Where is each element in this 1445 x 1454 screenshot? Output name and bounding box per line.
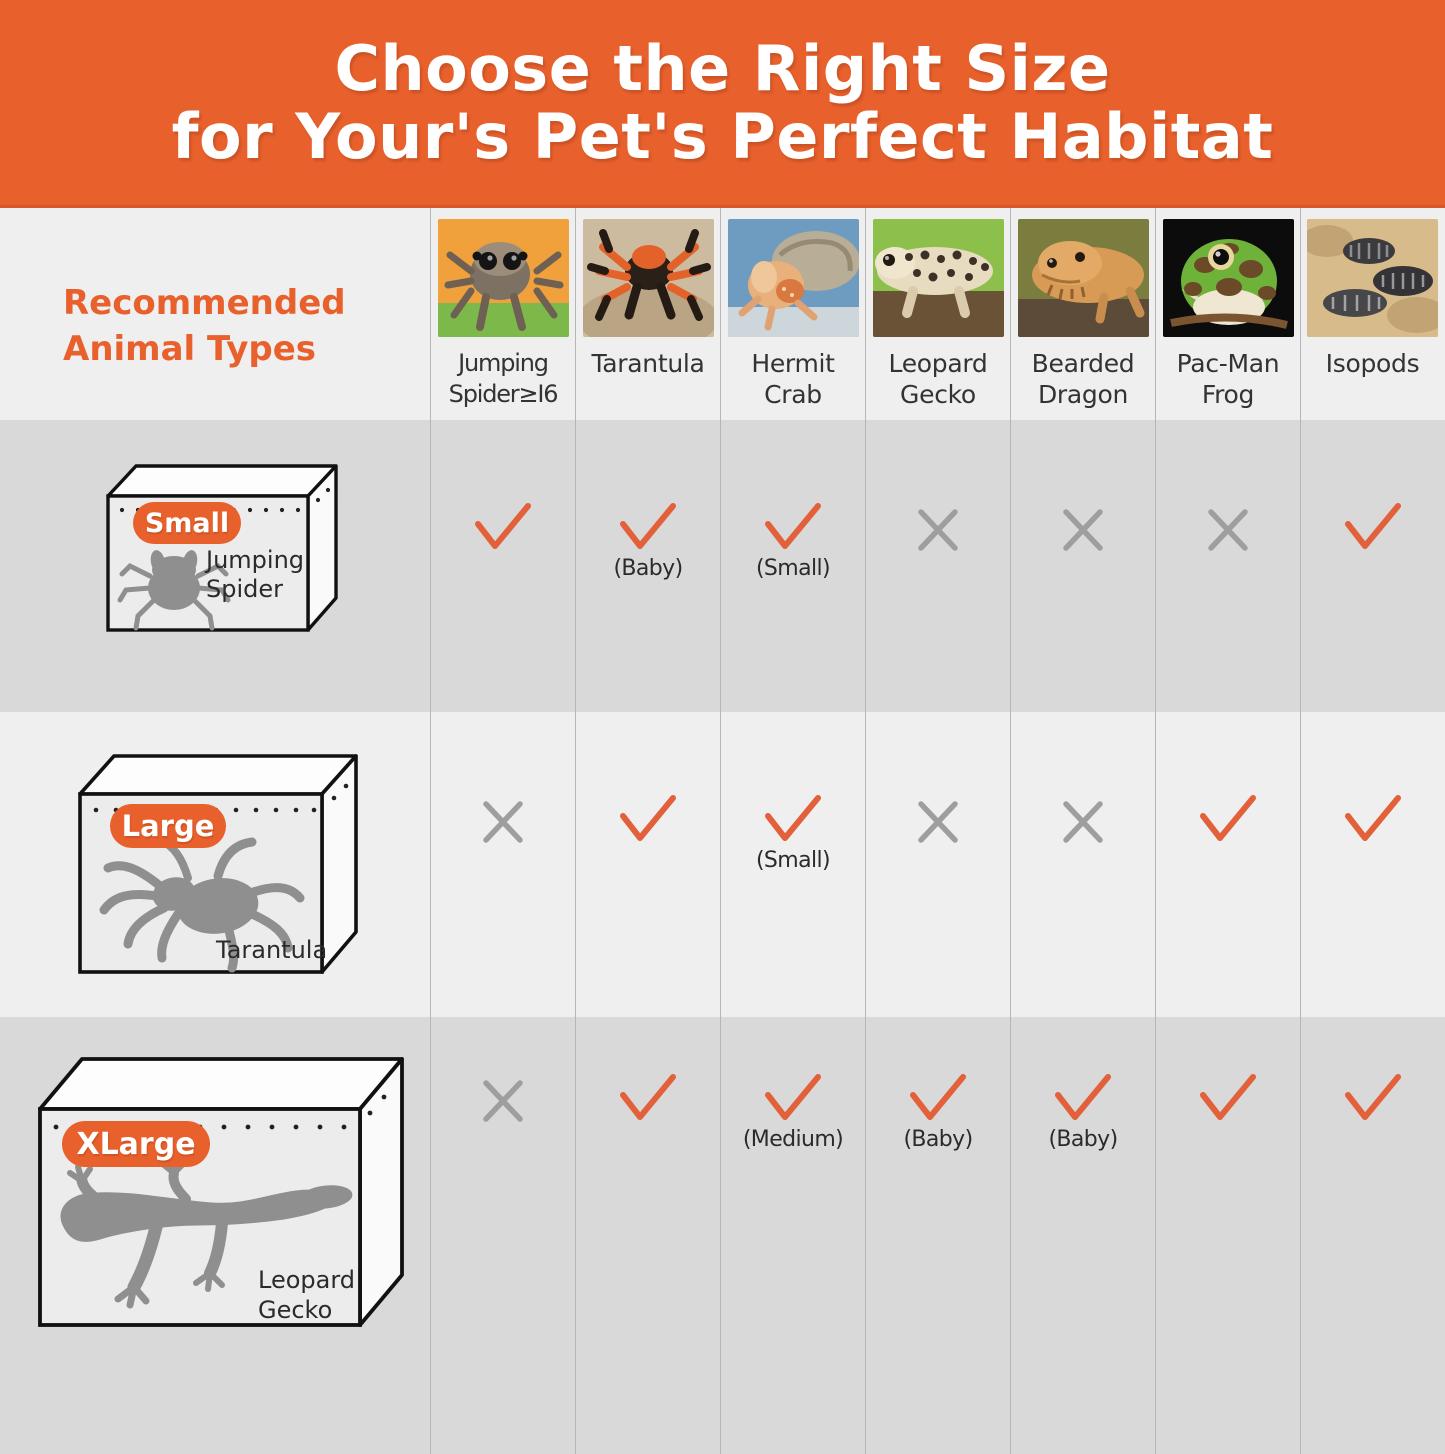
tarantula-photo xyxy=(583,219,714,337)
cell-large-jumping-spider[interactable] xyxy=(430,712,575,1017)
column-header-leopard-gecko[interactable]: Leopard Gecko xyxy=(865,208,1010,420)
table-row-xlarge: XLarge Leopard Gecko xyxy=(0,1017,1445,1454)
check-icon xyxy=(615,794,681,846)
banner-title-line2: for Your's Pet's Perfect Habitat xyxy=(172,103,1274,171)
size-badge-small: Small xyxy=(133,502,241,544)
col5-line2: Frog xyxy=(1177,379,1280,410)
jumping-spider-photo xyxy=(438,219,569,337)
check-icon xyxy=(615,502,681,554)
box-animal-xlarge-line2: Gecko xyxy=(258,1295,388,1325)
cell-note: (Baby) xyxy=(903,1127,972,1152)
box-animal-small-line1: Jumping xyxy=(206,546,316,575)
cell-note: (Baby) xyxy=(1048,1127,1117,1152)
cell-note: (Small) xyxy=(756,556,830,581)
cell-note: (Small) xyxy=(756,848,830,873)
col6-line1: Isopods xyxy=(1326,348,1420,379)
check-icon xyxy=(615,1073,681,1125)
cell-small-isopods[interactable] xyxy=(1300,420,1444,712)
cell-xlarge-leopard-gecko[interactable]: (Baby) xyxy=(865,1017,1010,1454)
cell-small-hermit-crab[interactable]: (Small) xyxy=(720,420,865,712)
box-animal-small-line2: Spider xyxy=(206,575,316,604)
cell-large-hermit-crab[interactable]: (Small) xyxy=(720,712,865,1017)
table-row-large: Large Tarantula xyxy=(0,712,1445,1017)
table-row-small: Small Jumping Spider xyxy=(0,420,1445,712)
column-label-hermit-crab: Hermit Crab xyxy=(751,348,834,410)
size-cell-small: Small Jumping Spider xyxy=(0,420,430,712)
cell-large-leopard-gecko[interactable] xyxy=(865,712,1010,1017)
cell-small-jumping-spider[interactable] xyxy=(430,420,575,712)
banner-title-line1: Choose the Right Size xyxy=(334,35,1110,103)
table-header-row: Recommended Animal Types xyxy=(0,208,1445,420)
cell-note: (Medium) xyxy=(743,1127,843,1152)
box-animal-xlarge-line1: Leopard xyxy=(258,1265,388,1295)
cross-icon xyxy=(474,1075,532,1127)
recommended-animal-types-title: Recommended Animal Types xyxy=(63,280,403,372)
column-header-tarantula[interactable]: Tarantula xyxy=(575,208,720,420)
bearded-dragon-photo xyxy=(1018,219,1149,337)
check-icon xyxy=(470,502,536,554)
size-badge-large: Large xyxy=(110,804,226,848)
cell-large-isopods[interactable] xyxy=(1300,712,1444,1017)
rec-title-line1: Recommended xyxy=(63,280,403,326)
rec-title-line2: Animal Types xyxy=(63,326,403,372)
isopods-photo xyxy=(1307,219,1438,337)
cell-small-tarantula[interactable]: (Baby) xyxy=(575,420,720,712)
cell-xlarge-isopods[interactable] xyxy=(1300,1017,1444,1454)
banner: Choose the Right Size for Your's Pet's P… xyxy=(0,0,1445,205)
check-icon xyxy=(760,502,826,554)
column-label-tarantula: Tarantula xyxy=(591,348,704,379)
size-badge-xlarge: XLarge xyxy=(62,1121,210,1167)
box-animal-label-xlarge: Leopard Gecko xyxy=(258,1265,388,1325)
hermit-crab-photo xyxy=(728,219,859,337)
col0-line2: Spider≥I6 xyxy=(449,379,558,410)
col3-line1: Leopard xyxy=(889,348,988,379)
check-icon xyxy=(1340,794,1406,846)
comparison-table: Recommended Animal Types xyxy=(0,208,1445,1454)
col2-line2: Crab xyxy=(751,379,834,410)
column-label-pacman-frog: Pac-Man Frog xyxy=(1177,348,1280,410)
check-icon xyxy=(1050,1073,1116,1125)
cross-icon xyxy=(909,504,967,556)
recommended-animal-types-cell: Recommended Animal Types xyxy=(0,208,430,420)
cell-large-tarantula[interactable] xyxy=(575,712,720,1017)
col4-line2: Dragon xyxy=(1032,379,1135,410)
cell-xlarge-bearded-dragon[interactable]: (Baby) xyxy=(1010,1017,1155,1454)
cell-xlarge-pacman-frog[interactable] xyxy=(1155,1017,1300,1454)
cross-icon xyxy=(1054,504,1112,556)
cross-icon xyxy=(1199,504,1257,556)
col1-line1: Tarantula xyxy=(591,348,704,379)
check-icon xyxy=(1340,502,1406,554)
column-header-bearded-dragon[interactable]: Bearded Dragon xyxy=(1010,208,1155,420)
size-cell-xlarge: XLarge Leopard Gecko xyxy=(0,1017,430,1454)
leopard-gecko-photo xyxy=(873,219,1004,337)
cross-icon xyxy=(909,796,967,848)
check-icon xyxy=(760,1073,826,1125)
cell-large-bearded-dragon[interactable] xyxy=(1010,712,1155,1017)
cell-small-pacman-frog[interactable] xyxy=(1155,420,1300,712)
box-animal-label-small: Jumping Spider xyxy=(206,546,316,604)
check-icon xyxy=(1340,1073,1406,1125)
cell-small-bearded-dragon[interactable] xyxy=(1010,420,1155,712)
pacman-frog-photo xyxy=(1163,219,1294,337)
check-icon xyxy=(905,1073,971,1125)
col2-line1: Hermit xyxy=(751,348,834,379)
column-header-isopods[interactable]: Isopods xyxy=(1300,208,1444,420)
cell-note: (Baby) xyxy=(613,556,682,581)
cross-icon xyxy=(1054,796,1112,848)
box-animal-label-large: Tarantula xyxy=(216,936,356,965)
col4-line1: Bearded xyxy=(1032,348,1135,379)
check-icon xyxy=(1195,1073,1261,1125)
cell-small-leopard-gecko[interactable] xyxy=(865,420,1010,712)
cell-large-pacman-frog[interactable] xyxy=(1155,712,1300,1017)
size-cell-large: Large Tarantula xyxy=(0,712,430,1017)
box-animal-large-line1: Tarantula xyxy=(216,936,356,965)
col5-line1: Pac-Man xyxy=(1177,348,1280,379)
cross-icon xyxy=(474,796,532,848)
column-label-jumping-spider: Jumping Spider≥I6 xyxy=(449,348,558,410)
col3-line2: Gecko xyxy=(889,379,988,410)
size-guide-page: Choose the Right Size for Your's Pet's P… xyxy=(0,0,1445,1454)
check-icon xyxy=(760,794,826,846)
check-icon xyxy=(1195,794,1261,846)
column-label-isopods: Isopods xyxy=(1326,348,1420,379)
column-label-bearded-dragon: Bearded Dragon xyxy=(1032,348,1135,410)
column-header-pacman-frog[interactable]: Pac-Man Frog xyxy=(1155,208,1300,420)
column-label-leopard-gecko: Leopard Gecko xyxy=(889,348,988,410)
cell-xlarge-tarantula[interactable] xyxy=(575,1017,720,1454)
cell-xlarge-jumping-spider[interactable] xyxy=(430,1017,575,1454)
column-header-hermit-crab[interactable]: Hermit Crab xyxy=(720,208,865,420)
col0-line1: Jumping xyxy=(449,348,558,379)
column-header-jumping-spider[interactable]: Jumping Spider≥I6 xyxy=(430,208,575,420)
cell-xlarge-hermit-crab[interactable]: (Medium) xyxy=(720,1017,865,1454)
